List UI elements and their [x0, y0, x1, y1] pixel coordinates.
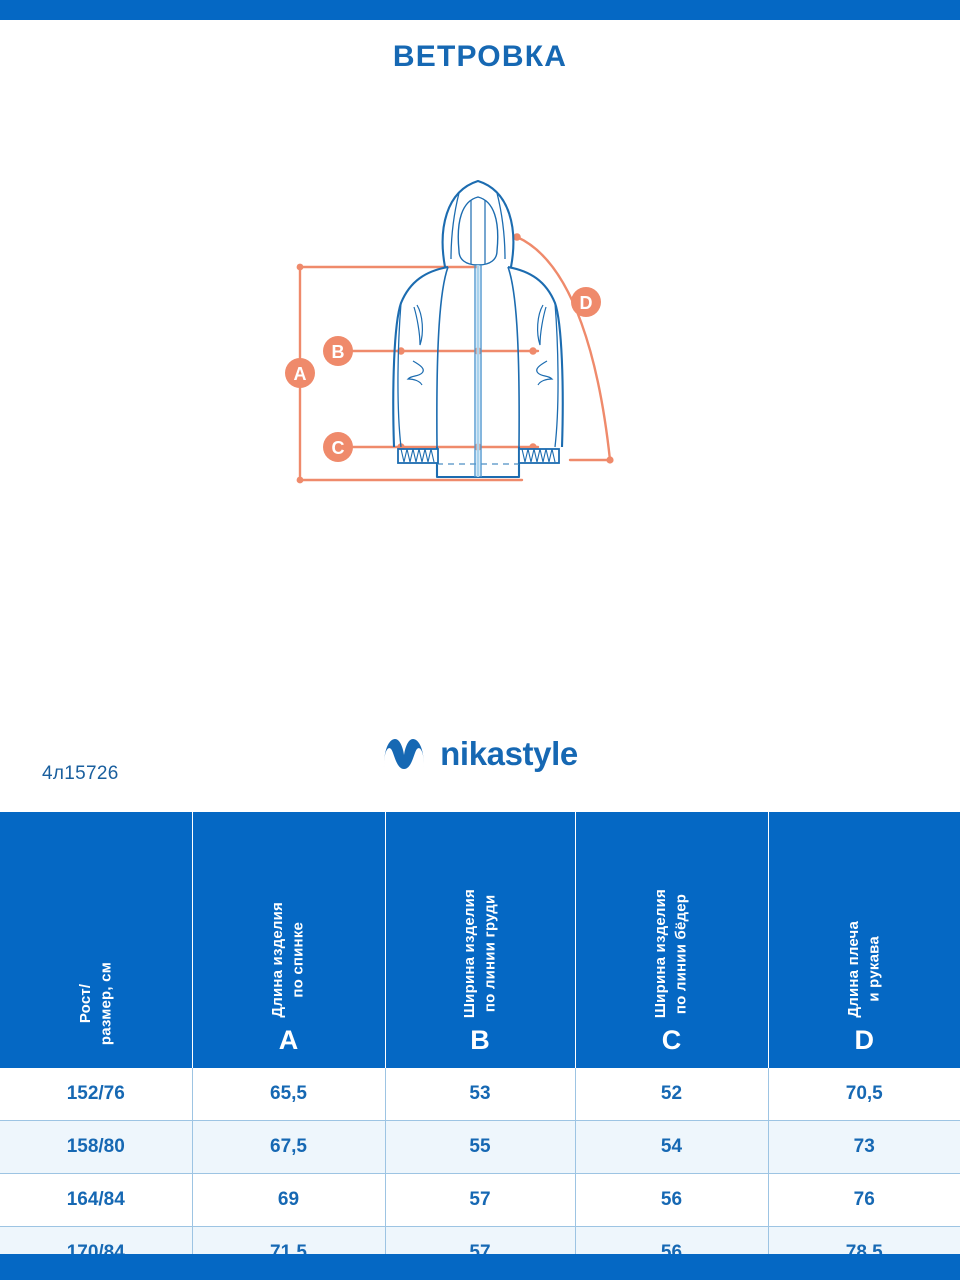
- cuff-left: [398, 449, 438, 463]
- cell-c: 56: [575, 1174, 768, 1227]
- cell-size: 164/84: [0, 1174, 192, 1227]
- cell-size: 158/80: [0, 1121, 192, 1174]
- brand-row: nikastyle 4л15726: [0, 735, 960, 795]
- column-letter: C: [662, 1027, 682, 1054]
- page-title: ВЕТРОВКА: [0, 40, 960, 74]
- bottom-accent-bar: [0, 1254, 960, 1280]
- column-label: Длина плеча и рукава: [844, 921, 885, 1018]
- column-header-d: Длина плеча и рукава D: [768, 812, 960, 1068]
- svg-text:A: A: [294, 364, 307, 384]
- column-header-a: Длина изделия по спинке A: [192, 812, 385, 1068]
- table-row: 158/80 67,5 55 54 73: [0, 1121, 960, 1174]
- cell-a: 69: [192, 1174, 385, 1227]
- cell-c: 52: [575, 1068, 768, 1121]
- column-letter: B: [470, 1027, 490, 1054]
- column-header-size: Рост/ размер, см: [0, 812, 192, 1068]
- column-header-b: Ширина изделия по линии груди B: [385, 812, 575, 1068]
- column-letter: D: [855, 1027, 875, 1054]
- cell-d: 73: [768, 1121, 960, 1174]
- sleeve-details: [408, 305, 552, 385]
- table-row: 164/84 69 57 56 76: [0, 1174, 960, 1227]
- column-label: Ширина изделия по линии бёдер: [651, 889, 692, 1018]
- cell-b: 57: [385, 1174, 575, 1227]
- column-letter: A: [279, 1027, 299, 1054]
- svg-text:C: C: [332, 438, 345, 458]
- svg-text:B: B: [332, 342, 345, 362]
- article-code: 4л15726: [42, 763, 119, 785]
- cell-b: 55: [385, 1121, 575, 1174]
- table-header-row: Рост/ размер, см Длина изделия по спинке…: [0, 812, 960, 1068]
- top-accent-bar: [0, 0, 960, 20]
- jacket-illustration: A B C D: [0, 155, 960, 515]
- cell-b: 53: [385, 1068, 575, 1121]
- brand-name: nikastyle: [440, 735, 578, 773]
- brand-logo: nikastyle: [0, 735, 960, 773]
- jacket-technical-drawing-svg: A B C D: [270, 155, 690, 500]
- size-table: Рост/ размер, см Длина изделия по спинке…: [0, 812, 960, 1280]
- cell-size: 152/76: [0, 1068, 192, 1121]
- column-label: Рост/ размер, см: [76, 962, 117, 1045]
- marker-d: D: [571, 287, 601, 317]
- svg-text:D: D: [580, 293, 593, 313]
- marker-c: C: [323, 432, 353, 462]
- column-header-c: Ширина изделия по линии бёдер C: [575, 812, 768, 1068]
- cell-c: 54: [575, 1121, 768, 1174]
- nikastyle-wave-mark-icon: [382, 737, 426, 771]
- table-row: 152/76 65,5 53 52 70,5: [0, 1068, 960, 1121]
- cuff-right: [519, 449, 559, 463]
- cell-a: 65,5: [192, 1068, 385, 1121]
- marker-a: A: [285, 358, 315, 388]
- cell-d: 76: [768, 1174, 960, 1227]
- cell-d: 70,5: [768, 1068, 960, 1121]
- cell-a: 67,5: [192, 1121, 385, 1174]
- column-label: Длина изделия по спинке: [268, 902, 309, 1018]
- column-label: Ширина изделия по линии груди: [460, 889, 501, 1018]
- marker-b: B: [323, 336, 353, 366]
